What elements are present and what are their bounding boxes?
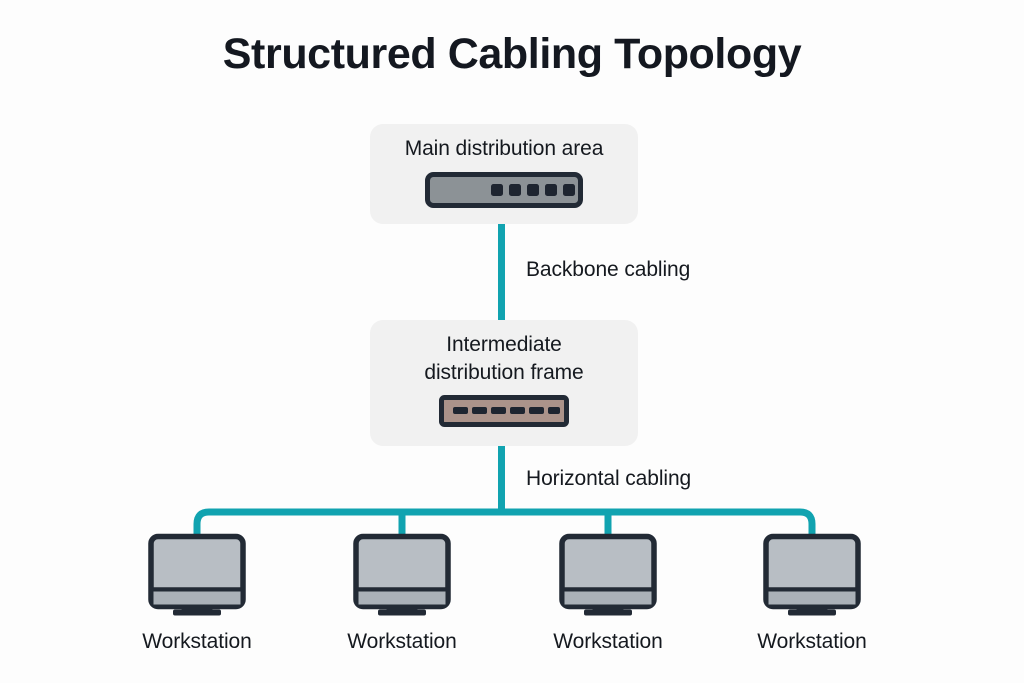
page-title: Structured Cabling Topology — [0, 30, 1024, 78]
node-intermediate-distribution-frame[interactable]: Intermediate distribution frame — [370, 320, 638, 446]
network-switch-icon — [425, 172, 583, 208]
horizontal-cabling-label: Horizontal cabling — [526, 467, 691, 491]
workstation-4-label: Workstation — [757, 630, 866, 654]
workstation-4[interactable]: Workstation — [752, 533, 872, 654]
workstation-2-label: Workstation — [347, 630, 456, 654]
horizontal-bus-line — [197, 512, 812, 535]
patch-panel-icon — [439, 395, 569, 427]
desktop-monitor-icon — [147, 533, 247, 617]
desktop-monitor-icon — [352, 533, 452, 617]
workstation-3-label: Workstation — [553, 630, 662, 654]
node-idf-label: Intermediate distribution frame — [424, 331, 583, 387]
workstation-1[interactable]: Workstation — [137, 533, 257, 654]
node-main-distribution-area[interactable]: Main distribution area — [370, 124, 638, 224]
workstation-2[interactable]: Workstation — [342, 533, 462, 654]
backbone-cabling-label: Backbone cabling — [526, 258, 690, 282]
desktop-monitor-icon — [558, 533, 658, 617]
workstation-3[interactable]: Workstation — [548, 533, 668, 654]
node-mda-label: Main distribution area — [405, 135, 604, 163]
topology-diagram: Structured Cabling Topology Main distrib… — [0, 0, 1024, 683]
workstation-1-label: Workstation — [142, 630, 251, 654]
desktop-monitor-icon — [762, 533, 862, 617]
